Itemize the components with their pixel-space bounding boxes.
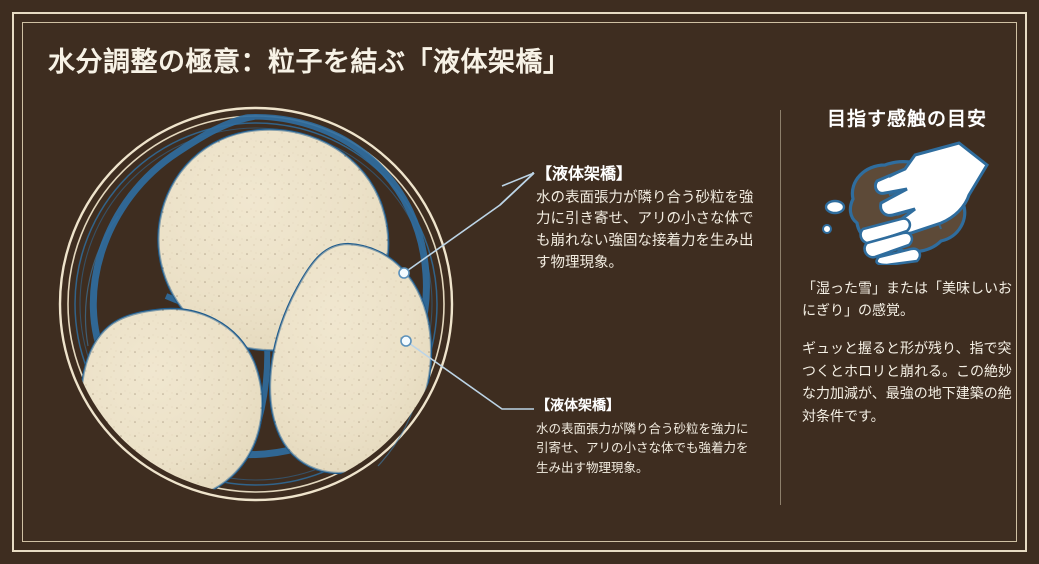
callout-1-body: 水の表面張力が隣り合う砂粒を強力に引き寄せ、アリの小さな体でも崩れない強固な接着… (536, 188, 754, 275)
callout-1-title: 【液体架橋】 (536, 163, 754, 185)
page-title: 水分調整の極意：粒子を結ぶ「液体架橋」 (48, 40, 571, 79)
panel-paragraph-2: ギュッと握ると形が残り、指で突つくとホロリと崩れる。この絶妙な力加減が、最強の地… (802, 338, 1012, 428)
panel-paragraph-1: 「湿った雪」または「美味しいおにぎり」の感覚。 (802, 279, 1012, 322)
diagram-interior (81, 116, 431, 500)
infographic-root: 水分調整の極意：粒子を結ぶ「液体架橋」 (0, 0, 1039, 564)
macro-physics-diagram: Macro-Physics Diagram (48, 96, 488, 516)
panel-divider (780, 110, 781, 505)
callout-liquid-bridge-2: 【液体架橋】 水の表面張力が隣り合う砂粒を強力に引寄せ、アリの小さな体でも強着力… (536, 397, 754, 477)
hand-squeezing-sand-icon (819, 137, 995, 265)
callout-2-title: 【液体架橋】 (536, 397, 754, 416)
sand-grain-left (81, 309, 262, 500)
texture-guide-panel: 目指す感触の目安 「湿った雪」または「美味しいおにぎり」の感覚。 ギュッと握ると… (802, 104, 1012, 428)
callout-liquid-bridge-1: 【液体架橋】 水の表面張力が隣り合う砂粒を強力に引き寄せ、アリの小さな体でも崩れ… (536, 163, 754, 275)
callout-2-body: 水の表面張力が隣り合う砂粒を強力に引寄せ、アリの小さな体でも強着力を生み出す物理… (536, 419, 754, 477)
panel-heading: 目指す感触の目安 (802, 104, 1012, 131)
diagram-svg (48, 96, 488, 516)
